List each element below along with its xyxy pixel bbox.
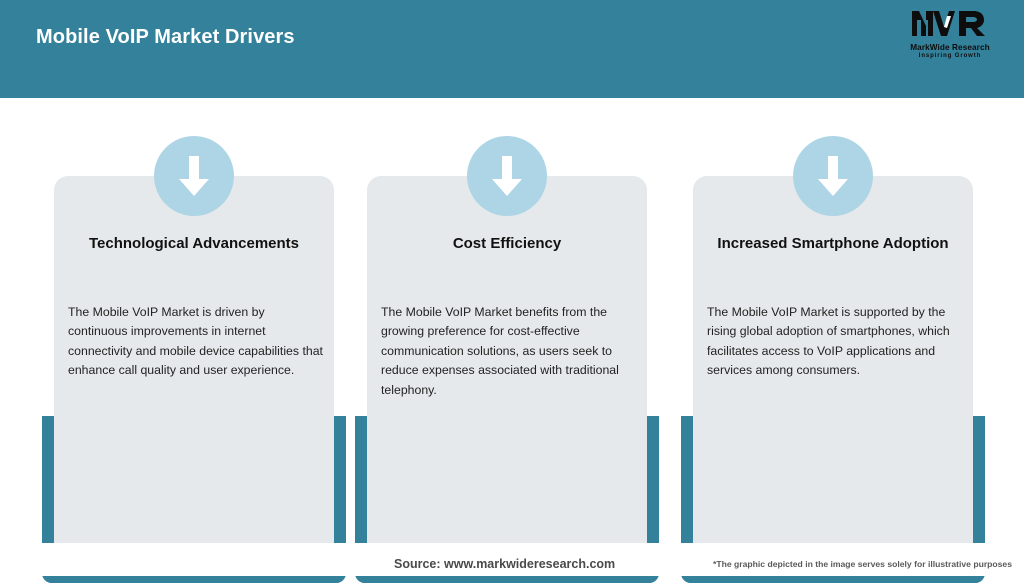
driver-card-title: Increased Smartphone Adoption bbox=[707, 233, 959, 254]
driver-card-title: Cost Efficiency bbox=[381, 233, 633, 254]
driver-card-panel: Increased Smartphone Adoption The Mobile… bbox=[693, 176, 973, 570]
header-bar bbox=[0, 0, 1024, 98]
down-arrow-icon bbox=[467, 136, 547, 216]
mwr-logo-mark-icon bbox=[911, 8, 989, 42]
driver-card-panel: Technological Advancements The Mobile Vo… bbox=[54, 176, 334, 570]
drivers-card-group: Technological Advancements The Mobile Vo… bbox=[0, 98, 1024, 543]
logo-tagline: Inspiring Growth bbox=[919, 53, 981, 59]
markwide-research-logo: MarkWide Research Inspiring Growth bbox=[894, 8, 1006, 58]
source-label: Source: www.markwideresearch.com bbox=[394, 557, 615, 571]
down-arrow-icon bbox=[793, 136, 873, 216]
driver-card-body: The Mobile VoIP Market benefits from the… bbox=[381, 303, 643, 400]
logo-company-name: MarkWide Research bbox=[910, 43, 989, 52]
disclaimer-label: *The graphic depicted in the image serve… bbox=[713, 559, 1012, 569]
driver-card-body: The Mobile VoIP Market is supported by t… bbox=[707, 303, 969, 381]
driver-card-body: The Mobile VoIP Market is driven by cont… bbox=[68, 303, 324, 381]
down-arrow-icon bbox=[154, 136, 234, 216]
driver-card-title: Technological Advancements bbox=[68, 233, 320, 254]
page-title: Mobile VoIP Market Drivers bbox=[36, 26, 295, 49]
driver-card-panel: Cost Efficiency The Mobile VoIP Market b… bbox=[367, 176, 647, 570]
